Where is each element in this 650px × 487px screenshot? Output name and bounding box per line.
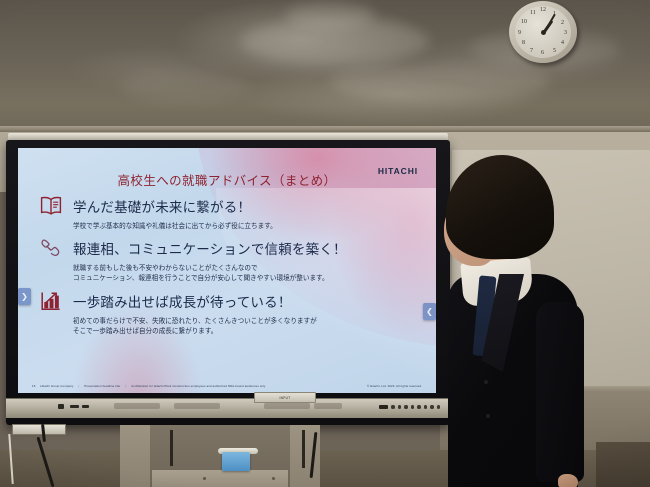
storage-box [222,452,250,471]
clock-numeral: 7 [530,48,533,54]
footer-item: Hitachi Group Company [40,384,73,388]
slide-headline: 一歩踏み出せば成長が待っている！ [73,291,292,311]
slide-block: 報連相、コミュニケーションで信頼を築く！ 就職する前もした後も不安やわからないこ… [38,236,422,283]
interactive-display[interactable]: HITACHI 高校生への就職アドバイス（まとめ） [6,140,450,425]
slide-previous-button[interactable]: ❮ [423,303,436,320]
clock-numeral: 3 [564,30,567,36]
display-control-buttons[interactable] [379,405,440,409]
slide-subtext: 初めての事だらけで不安、失敗に恐れたり、たくさんきついことが多くなりますが そこ… [73,316,422,336]
display-bottom-bezel: INPUT [6,398,450,418]
presenter-hair [446,155,554,259]
display-down-button[interactable] [417,405,421,409]
display-up-button[interactable] [411,405,415,409]
clock-numeral: 9 [518,30,521,36]
clock-face: 12 1 2 3 4 5 6 7 8 9 10 11 [515,6,571,58]
footer-item: Confidential: for Hitachi Plant Construc… [131,384,265,388]
slide-next-button[interactable]: ❯ [18,288,31,305]
open-book-icon [38,194,64,218]
clock-numeral: 6 [541,50,544,56]
slide-body: 学んだ基礎が未来に繋がる！ 学校で学ぶ基本的な知識や礼儀は社会に出てから必ず役に… [38,194,422,341]
display-power-button[interactable] [391,405,395,409]
clock-numeral: 2 [561,20,564,26]
classroom-scene: 12 1 2 3 4 5 6 7 8 9 10 11 HITACHI 高校生への… [0,0,650,487]
footer-item: Presentation headline title [84,384,120,388]
display-menu-button[interactable] [398,405,402,409]
clock-numeral: 12 [540,7,546,13]
footer-copyright: © Hitachi, Ltd. 2023. All rights reserve… [367,384,422,388]
slide-headline: 報連相、コミュニケーションで信頼を築く！ [73,238,347,258]
presenter-arm [536,302,584,482]
slide-footer: 15 Hitachi Group Company | Presentation … [32,384,422,388]
clock-numeral: 10 [521,19,527,25]
display-input-label[interactable]: INPUT [254,392,316,403]
bar-chart-growth-icon [38,289,64,313]
display-screen[interactable]: HITACHI 高校生への就職アドバイス（まとめ） [18,148,436,393]
footer-page-number: 15 [32,384,35,388]
slide-title: 高校生への就職アドバイス（まとめ） [18,170,436,189]
clock-numeral: 11 [530,10,536,16]
presenter-hand [558,474,578,487]
slide-block: 学んだ基礎が未来に繋がる！ 学校で学ぶ基本的な知識や礼儀は社会に出てから必ず役に… [38,194,422,231]
slide-headline: 学んだ基礎が未来に繋がる！ [73,196,251,216]
clock-numeral: 5 [553,48,556,54]
wall-plate [12,424,66,435]
display-volume-up-button[interactable] [424,405,428,409]
clock-center-hub [541,30,546,35]
telephone-icon [38,236,64,260]
slide-subtext: 就職する前もした後も不安やわからないことがたくさんなので コミュニケーション、報… [73,263,422,283]
presentation-slide: HITACHI 高校生への就職アドバイス（まとめ） [18,148,436,393]
slide-subtext: 学校で学ぶ基本的な知識や礼儀は社会に出てから必ず役に立ちます。 [73,221,422,231]
presenter [440,152,620,487]
cart-panel [152,470,288,487]
clock-numeral: 8 [522,40,525,46]
footer-separator: | [125,384,126,388]
ir-receiver-icon [379,405,388,409]
wall-clock: 12 1 2 3 4 5 6 7 8 9 10 11 [509,1,577,63]
footer-separator: | [78,384,79,388]
clock-numeral: 4 [561,40,564,46]
slide-block: 一歩踏み出せば成長が待っている！ 初めての事だらけで不安、失敗に恐れたり、たくさ… [38,289,422,336]
display-volume-down-button[interactable] [430,405,434,409]
display-input-button[interactable] [404,405,408,409]
